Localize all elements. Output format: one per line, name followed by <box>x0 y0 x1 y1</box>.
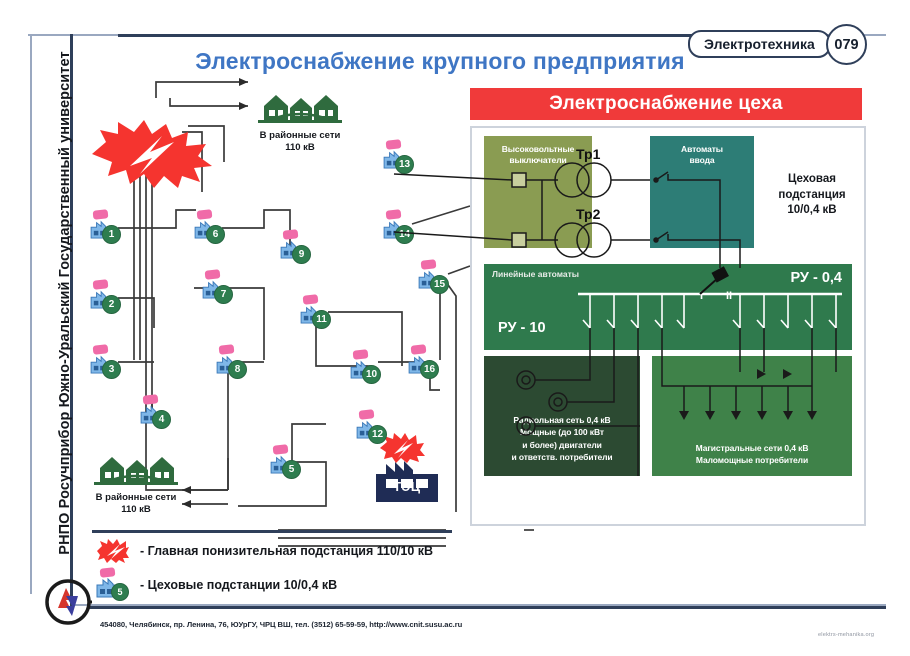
district-grid-bottom: В районные сети 110 кВ <box>88 448 184 516</box>
shop-substation-caption: Цеховая подстанция 10/0,4 кВ <box>764 172 860 219</box>
substation-node-2[interactable]: 2 <box>90 285 120 311</box>
node-number-badge: 5 <box>111 583 129 601</box>
district-grid-top: В районные сети 110 кВ <box>252 86 348 154</box>
node-number-badge: 7 <box>214 285 233 304</box>
left-rule-light <box>30 34 32 594</box>
substation-node-5[interactable]: 5 <box>270 450 300 476</box>
node-number-badge: 14 <box>395 225 414 244</box>
slide-root: РНПО Росучприбор Южно-Уральский Государс… <box>0 0 910 656</box>
substation-node-9[interactable]: 9 <box>280 235 310 261</box>
section-banner-label: Электроснабжение цеха <box>549 93 783 115</box>
course-badge: Электротехника <box>688 30 831 58</box>
substation-node-4[interactable]: 4 <box>140 400 170 426</box>
substation-node-10[interactable]: 10 <box>350 355 380 381</box>
sidebar-organization: РНПО Росучприбор Южно-Уральский Государс… <box>57 23 73 583</box>
substation-node-7[interactable]: 7 <box>202 275 232 301</box>
transformer-1-label: Тр1 <box>576 146 600 162</box>
node-number-badge: 4 <box>152 410 171 429</box>
watermark: elektrs-mehanika.org <box>818 632 874 638</box>
substation-node-6[interactable]: 6 <box>194 215 224 241</box>
node-number-badge: 6 <box>206 225 225 244</box>
node-number-badge: 9 <box>292 245 311 264</box>
transformer-2-label: Тр2 <box>576 206 600 222</box>
main-substation-star-icon <box>88 118 216 190</box>
node-number-badge: 11 <box>312 310 331 329</box>
node-number-badge: 16 <box>420 360 439 379</box>
workshop-schematic-panel: Высоковольтные выключатели Автоматы ввод… <box>470 126 866 526</box>
shop-substation-icon: 5 <box>96 572 130 598</box>
legend-divider <box>92 530 452 533</box>
legend-main-substation-label: - Главная понизительная подстанция 110/1… <box>140 544 433 558</box>
main-substation-star-icon <box>96 538 130 564</box>
legend-row-main-substation: - Главная понизительная подстанция 110/1… <box>96 538 433 564</box>
page-number-badge: 079 <box>826 24 867 65</box>
substation-node-3[interactable]: 3 <box>90 350 120 376</box>
node-number-badge: 3 <box>102 360 121 379</box>
district-grid-bottom-label: В районные сети 110 кВ <box>88 492 184 516</box>
node-number-badge: 8 <box>228 360 247 379</box>
thermal-power-plant: ТЭЦ <box>368 452 446 502</box>
substation-node-1[interactable]: 1 <box>90 215 120 241</box>
substation-node-14[interactable]: 14 <box>383 215 413 241</box>
node-number-badge: 10 <box>362 365 381 384</box>
substation-node-8[interactable]: 8 <box>216 350 246 376</box>
university-logo <box>44 578 92 626</box>
bottom-rule-dark <box>88 606 886 609</box>
district-grid-top-label: В районные сети 110 кВ <box>252 130 348 154</box>
node-number-badge: 15 <box>430 275 449 294</box>
legend-shop-substation-label: - Цеховые подстанции 10/0,4 кВ <box>140 578 337 592</box>
top-rule-dark <box>118 34 728 37</box>
thermal-power-plant-label: ТЭЦ <box>368 480 446 494</box>
footer-address: 454080, Челябинск, пр. Ленина, 76, ЮУрГУ… <box>100 620 462 629</box>
substation-node-13[interactable]: 13 <box>383 145 413 171</box>
node-number-badge: 13 <box>395 155 414 174</box>
village-icon <box>88 448 184 486</box>
node-number-badge: 1 <box>102 225 121 244</box>
legend-row-shop-substation: 5 - Цеховые подстанции 10/0,4 кВ <box>96 572 337 598</box>
section-banner: Электроснабжение цеха <box>470 88 862 120</box>
node-number-badge: 12 <box>368 425 387 444</box>
substation-node-16[interactable]: 16 <box>408 350 438 376</box>
village-icon <box>252 86 348 124</box>
substation-node-11[interactable]: 11 <box>300 300 330 326</box>
node-number-badge: 5 <box>282 460 301 479</box>
node-number-badge: 2 <box>102 295 121 314</box>
substation-node-12[interactable]: 12 <box>356 415 386 441</box>
substation-node-15[interactable]: 15 <box>418 265 448 291</box>
